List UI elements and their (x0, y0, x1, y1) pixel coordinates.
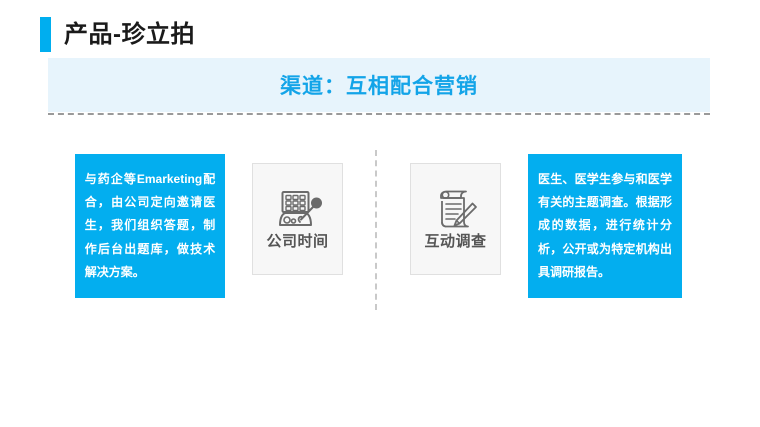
card-left-description: 与药企等Emarketing配合，由公司定向邀请医生，我们组织答题，制作后台出题… (75, 154, 225, 298)
vertical-dashed-divider (375, 150, 377, 310)
card-right-description: 医生、医学生参与和医学有关的主题调查。根据形成的数据，进行统计分析，公开或为特定… (528, 154, 682, 298)
scroll-pencil-icon (428, 188, 484, 232)
card-interactive-survey[interactable]: 互动调查 (410, 163, 501, 275)
card-left-body-text: 与药企等Emarketing配合，由公司定向邀请医生，我们组织答题，制作后台出题… (85, 168, 216, 285)
card-interactive-survey-label: 互动调查 (424, 234, 486, 251)
arcade-console-joystick-icon (270, 188, 326, 232)
card-right-body-text: 医生、医学生参与和医学有关的主题调查。根据形成的数据，进行统计分析，公开或为特定… (538, 168, 672, 285)
card-company-time-label: 公司时间 (266, 234, 328, 251)
slide-canvas: 产品-珍立拍 渠道：互相配合营销 与药企等Emarketing配合，由公司定向邀… (0, 0, 760, 427)
card-company-time[interactable]: 公司时间 (252, 163, 343, 275)
content-area: 与药企等Emarketing配合，由公司定向邀请医生，我们组织答题，制作后台出题… (0, 0, 760, 427)
